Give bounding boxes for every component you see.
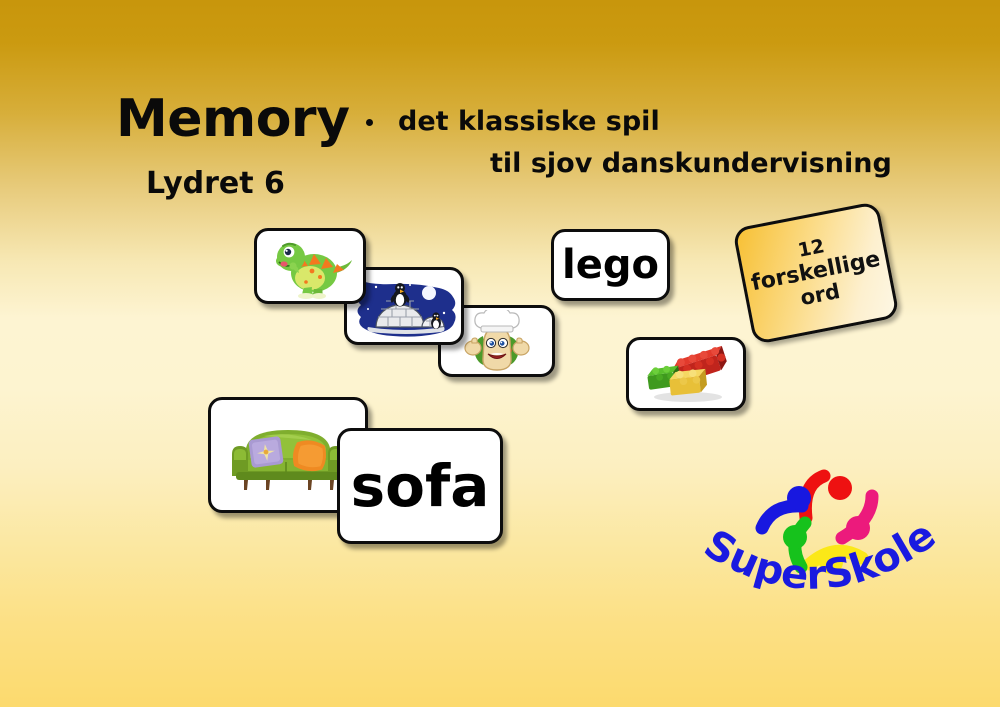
- word-count-badge: 12 forskellige ord: [732, 201, 900, 345]
- memory-card-dinosaur[interactable]: green cartoon dinosaur: [254, 228, 366, 304]
- memory-card-word-sofa[interactable]: sofa: [337, 428, 503, 544]
- lego-bricks-image: [640, 344, 732, 404]
- badge-count-word-2: ord: [799, 280, 843, 311]
- card-word-label: lego: [562, 242, 659, 288]
- memory-card-word-lego[interactable]: lego: [551, 229, 670, 301]
- dinosaur-image: [264, 233, 356, 299]
- tagline-line-2: til sjov danskundervisning: [490, 148, 892, 179]
- page-title: Memory: [116, 89, 349, 149]
- poster-canvas: Memory Lydret 6 det klassiske spil til s…: [0, 0, 1000, 707]
- superskole-logo: SuperSkole: [700, 440, 945, 610]
- igloo-image: [352, 273, 456, 339]
- kebab-image: [457, 310, 537, 372]
- tagline-line-1: det klassiske spil: [398, 106, 660, 137]
- card-word-label: sofa: [351, 452, 490, 520]
- superskole-logo-graphic: SuperSkole: [700, 440, 945, 610]
- logo-wordmark: SuperSkole: [700, 512, 944, 599]
- memory-card-lego-bricks[interactable]: red green and yellow lego bricks: [626, 337, 746, 411]
- sofa-image: [220, 416, 356, 494]
- bullet-icon: [366, 119, 373, 126]
- logo-figure-pink: [842, 496, 872, 540]
- logo-figure-red: [805, 476, 852, 518]
- page-subtitle: Lydret 6: [146, 166, 285, 201]
